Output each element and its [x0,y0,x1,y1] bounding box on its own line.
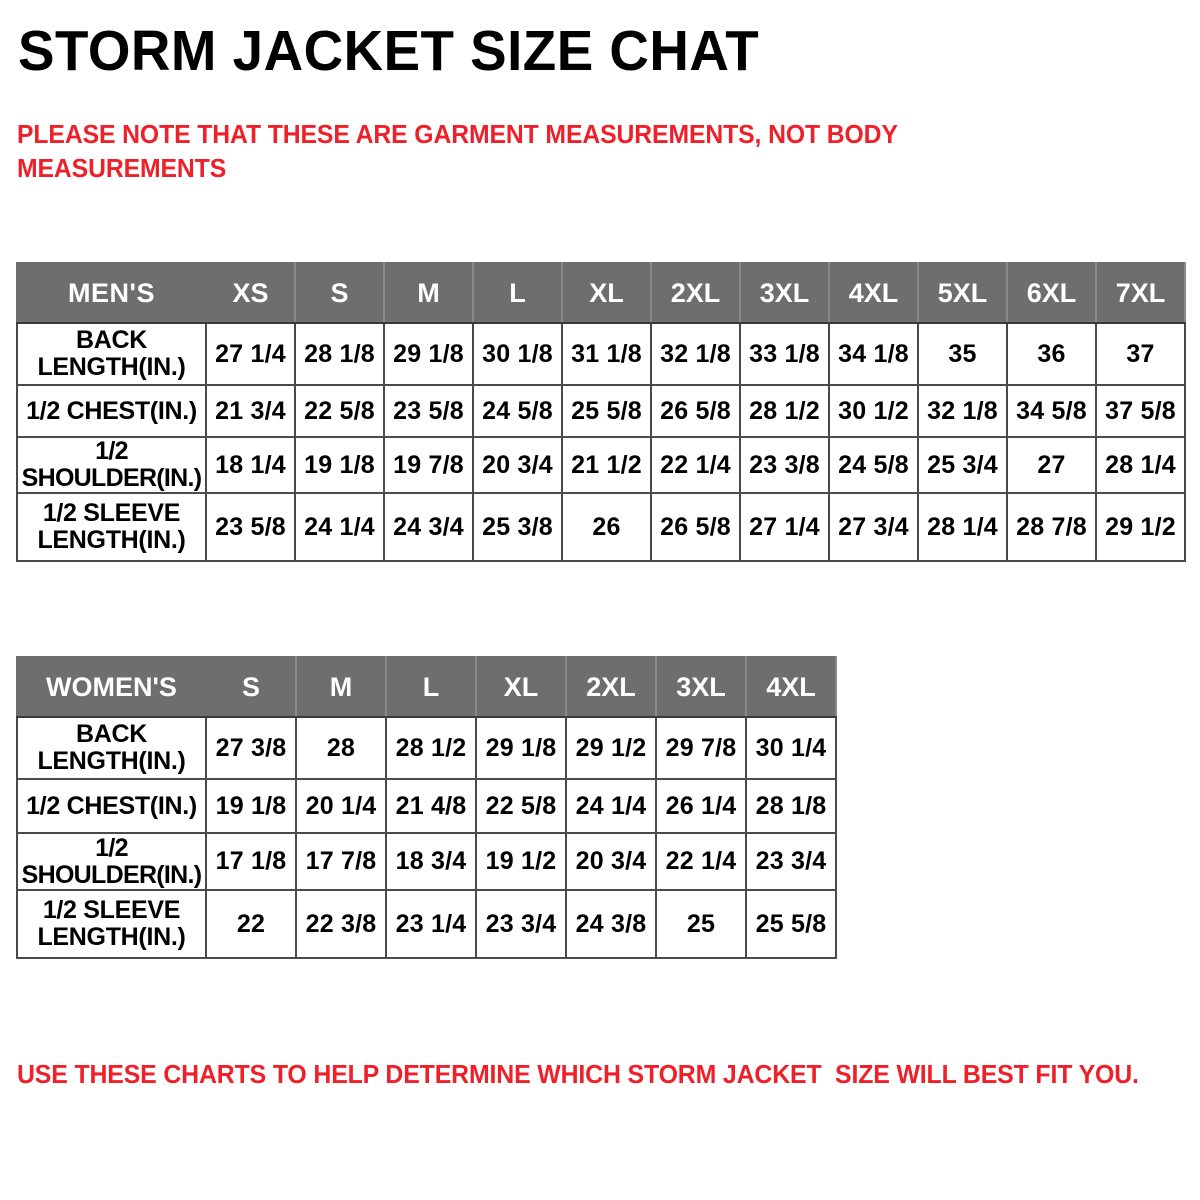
mens-half-sleeve-2xl: 26 5/8 [651,493,740,561]
size-chart-page: STORM JACKET SIZE CHAT PLEASE NOTE THAT … [0,0,1200,1200]
womens-half-shoulder-m: 17 7/8 [296,833,386,890]
mens-col-header-l: L [473,263,562,323]
womens-half-sleeve-4xl: 25 5/8 [746,890,836,958]
mens-half-chest-4xl: 30 1/2 [829,385,918,437]
womens-half-shoulder-4xl: 23 3/4 [746,833,836,890]
table-row: 1/2 SLEEVE LENGTH(IN.) 23 5/8 24 1/4 24 … [17,493,1185,561]
womens-half-sleeve-3xl: 25 [656,890,746,958]
mens-back-length-3xl: 33 1/8 [740,323,829,385]
mens-half-chest-5xl: 32 1/8 [918,385,1007,437]
womens-back-length-s: 27 3/8 [206,717,296,779]
womens-col-header-xl: XL [476,657,566,717]
mens-half-shoulder-7xl: 28 1/4 [1096,437,1185,493]
womens-back-length-3xl: 29 7/8 [656,717,746,779]
womens-size-table: WOMEN'S S M L XL 2XL 3XL 4XL BACK LENGTH… [16,656,837,959]
mens-back-length-s: 28 1/8 [295,323,384,385]
mens-half-chest-2xl: 26 5/8 [651,385,740,437]
mens-col-header-4xl: 4XL [829,263,918,323]
mens-header-row: MEN'S XS S M L XL 2XL 3XL 4XL 5XL 6XL 7X… [17,263,1185,323]
womens-corner-label: WOMEN'S [17,657,206,717]
mens-half-sleeve-5xl: 28 1/4 [918,493,1007,561]
mens-col-header-m: M [384,263,473,323]
womens-half-sleeve-2xl: 24 3/8 [566,890,656,958]
womens-row-label-half-sleeve-length: 1/2 SLEEVE LENGTH(IN.) [17,890,206,958]
mens-col-header-xs: XS [206,263,295,323]
womens-col-header-s: S [206,657,296,717]
womens-back-length-m: 28 [296,717,386,779]
mens-back-length-xl: 31 1/8 [562,323,651,385]
mens-col-header-s: S [295,263,384,323]
womens-half-sleeve-xl: 23 3/4 [476,890,566,958]
mens-half-sleeve-s: 24 1/4 [295,493,384,561]
table-row: 1/2 CHEST(IN.) 19 1/8 20 1/4 21 4/8 22 5… [17,779,836,833]
womens-row-label-half-chest: 1/2 CHEST(IN.) [17,779,206,833]
womens-row-label-half-shoulder: 1/2 SHOULDER(IN.) [17,833,206,890]
mens-back-length-l: 30 1/8 [473,323,562,385]
womens-col-header-l: L [386,657,476,717]
mens-col-header-xl: XL [562,263,651,323]
womens-back-length-xl: 29 1/8 [476,717,566,779]
mens-back-length-4xl: 34 1/8 [829,323,918,385]
mens-half-chest-xl: 25 5/8 [562,385,651,437]
mens-half-chest-l: 24 5/8 [473,385,562,437]
womens-half-sleeve-s: 22 [206,890,296,958]
womens-header-row: WOMEN'S S M L XL 2XL 3XL 4XL [17,657,836,717]
mens-half-chest-3xl: 28 1/2 [740,385,829,437]
mens-half-shoulder-6xl: 27 [1007,437,1096,493]
womens-col-header-4xl: 4XL [746,657,836,717]
womens-half-chest-s: 19 1/8 [206,779,296,833]
mens-back-length-5xl: 35 [918,323,1007,385]
mens-half-shoulder-l: 20 3/4 [473,437,562,493]
womens-half-chest-4xl: 28 1/8 [746,779,836,833]
womens-half-shoulder-2xl: 20 3/4 [566,833,656,890]
womens-half-chest-m: 20 1/4 [296,779,386,833]
mens-col-header-5xl: 5XL [918,263,1007,323]
mens-corner-label: MEN'S [17,263,206,323]
mens-size-table: MEN'S XS S M L XL 2XL 3XL 4XL 5XL 6XL 7X… [16,262,1186,562]
womens-half-sleeve-m: 22 3/8 [296,890,386,958]
womens-table-head: WOMEN'S S M L XL 2XL 3XL 4XL [17,657,836,717]
womens-half-chest-3xl: 26 1/4 [656,779,746,833]
mens-half-sleeve-m: 24 3/4 [384,493,473,561]
page-title: STORM JACKET SIZE CHAT [18,22,1135,80]
mens-back-length-7xl: 37 [1096,323,1185,385]
mens-half-chest-xs: 21 3/4 [206,385,295,437]
womens-half-shoulder-3xl: 22 1/4 [656,833,746,890]
mens-table-body: BACK LENGTH(IN.) 27 1/4 28 1/8 29 1/8 30… [17,323,1185,561]
womens-back-length-4xl: 30 1/4 [746,717,836,779]
womens-table-body: BACK LENGTH(IN.) 27 3/8 28 28 1/2 29 1/8… [17,717,836,958]
mens-half-chest-6xl: 34 5/8 [1007,385,1096,437]
table-row: BACK LENGTH(IN.) 27 1/4 28 1/8 29 1/8 30… [17,323,1185,385]
table-row: 1/2 SHOULDER(IN.) 18 1/4 19 1/8 19 7/8 2… [17,437,1185,493]
mens-back-length-6xl: 36 [1007,323,1096,385]
mens-half-sleeve-xl: 26 [562,493,651,561]
table-row: 1/2 SHOULDER(IN.) 17 1/8 17 7/8 18 3/4 1… [17,833,836,890]
mens-half-sleeve-6xl: 28 7/8 [1007,493,1096,561]
womens-half-chest-xl: 22 5/8 [476,779,566,833]
mens-col-header-3xl: 3XL [740,263,829,323]
mens-half-shoulder-3xl: 23 3/8 [740,437,829,493]
mens-col-header-7xl: 7XL [1096,263,1185,323]
mens-half-shoulder-xs: 18 1/4 [206,437,295,493]
womens-row-label-back-length: BACK LENGTH(IN.) [17,717,206,779]
mens-half-shoulder-s: 19 1/8 [295,437,384,493]
mens-half-sleeve-4xl: 27 3/4 [829,493,918,561]
mens-col-header-6xl: 6XL [1007,263,1096,323]
mens-row-label-back-length: BACK LENGTH(IN.) [17,323,206,385]
mens-half-sleeve-xs: 23 5/8 [206,493,295,561]
womens-col-header-m: M [296,657,386,717]
mens-back-length-2xl: 32 1/8 [651,323,740,385]
mens-half-shoulder-5xl: 25 3/4 [918,437,1007,493]
mens-half-shoulder-xl: 21 1/2 [562,437,651,493]
mens-row-label-half-shoulder: 1/2 SHOULDER(IN.) [17,437,206,493]
mens-half-chest-7xl: 37 5/8 [1096,385,1185,437]
mens-row-label-half-chest: 1/2 CHEST(IN.) [17,385,206,437]
mens-half-sleeve-3xl: 27 1/4 [740,493,829,561]
mens-col-header-2xl: 2XL [651,263,740,323]
womens-half-chest-l: 21 4/8 [386,779,476,833]
table-row: 1/2 SLEEVE LENGTH(IN.) 22 22 3/8 23 1/4 … [17,890,836,958]
mens-back-length-m: 29 1/8 [384,323,473,385]
mens-table-head: MEN'S XS S M L XL 2XL 3XL 4XL 5XL 6XL 7X… [17,263,1185,323]
mens-half-chest-s: 22 5/8 [295,385,384,437]
mens-half-shoulder-2xl: 22 1/4 [651,437,740,493]
womens-back-length-l: 28 1/2 [386,717,476,779]
mens-half-shoulder-4xl: 24 5/8 [829,437,918,493]
table-row: 1/2 CHEST(IN.) 21 3/4 22 5/8 23 5/8 24 5… [17,385,1185,437]
womens-back-length-2xl: 29 1/2 [566,717,656,779]
table-row: BACK LENGTH(IN.) 27 3/8 28 28 1/2 29 1/8… [17,717,836,779]
womens-half-shoulder-s: 17 1/8 [206,833,296,890]
mens-half-shoulder-m: 19 7/8 [384,437,473,493]
mens-back-length-xs: 27 1/4 [206,323,295,385]
mens-half-sleeve-7xl: 29 1/2 [1096,493,1185,561]
mens-half-sleeve-l: 25 3/8 [473,493,562,561]
mens-row-label-half-sleeve-length: 1/2 SLEEVE LENGTH(IN.) [17,493,206,561]
womens-half-chest-2xl: 24 1/4 [566,779,656,833]
womens-col-header-3xl: 3XL [656,657,746,717]
mens-half-chest-m: 23 5/8 [384,385,473,437]
garment-measurement-note: PLEASE NOTE THAT THESE ARE GARMENT MEASU… [17,119,948,187]
womens-half-shoulder-xl: 19 1/2 [476,833,566,890]
footer-help-text: USE THESE CHARTS TO HELP DETERMINE WHICH… [17,1061,1109,1090]
womens-col-header-2xl: 2XL [566,657,656,717]
womens-half-sleeve-l: 23 1/4 [386,890,476,958]
womens-half-shoulder-l: 18 3/4 [386,833,476,890]
